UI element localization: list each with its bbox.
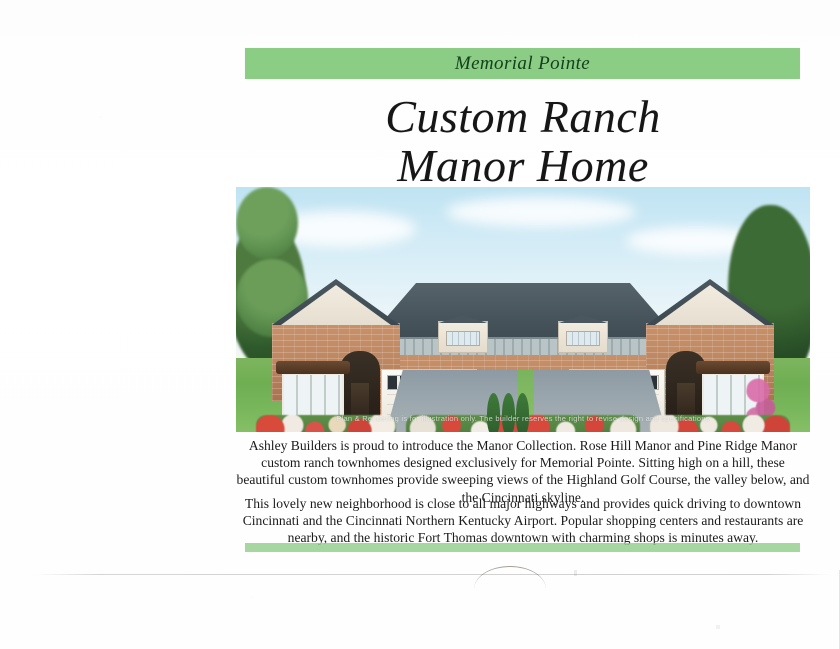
evergreen-shrub: [502, 393, 515, 432]
footer-green-bar: [245, 543, 800, 552]
rendering-disclaimer: Plan & Rendering is for illustration onl…: [236, 414, 810, 423]
scan-speck: [574, 570, 577, 576]
page-title: Custom Ranch Manor Home: [240, 92, 806, 190]
dormer-right-window: [566, 331, 600, 346]
evergreen-shrub: [516, 393, 529, 432]
next-page-arc-artifact: [474, 566, 546, 589]
page-title-line-1: Custom Ranch: [385, 91, 661, 142]
tree-mid-left: [236, 187, 298, 259]
dormer-left: [438, 321, 488, 353]
evergreen-shrub: [487, 393, 500, 432]
dormer-left-window: [446, 331, 480, 346]
scan-speck: [716, 625, 720, 629]
community-banner-label: Memorial Pointe: [245, 48, 800, 79]
dormer-right: [558, 321, 608, 353]
scan-seam-line: [35, 574, 830, 575]
body-paragraph-2: This lovely new neighborhood is close to…: [236, 495, 810, 547]
bay-window-left-awning: [276, 361, 350, 374]
page-title-line-2: Manor Home: [240, 141, 806, 190]
scanned-page: Memorial Pointe Custom Ranch Manor Home: [0, 0, 840, 649]
home-rendering-image: Plan & Rendering is for illustration onl…: [236, 187, 810, 432]
cloud: [446, 197, 636, 227]
